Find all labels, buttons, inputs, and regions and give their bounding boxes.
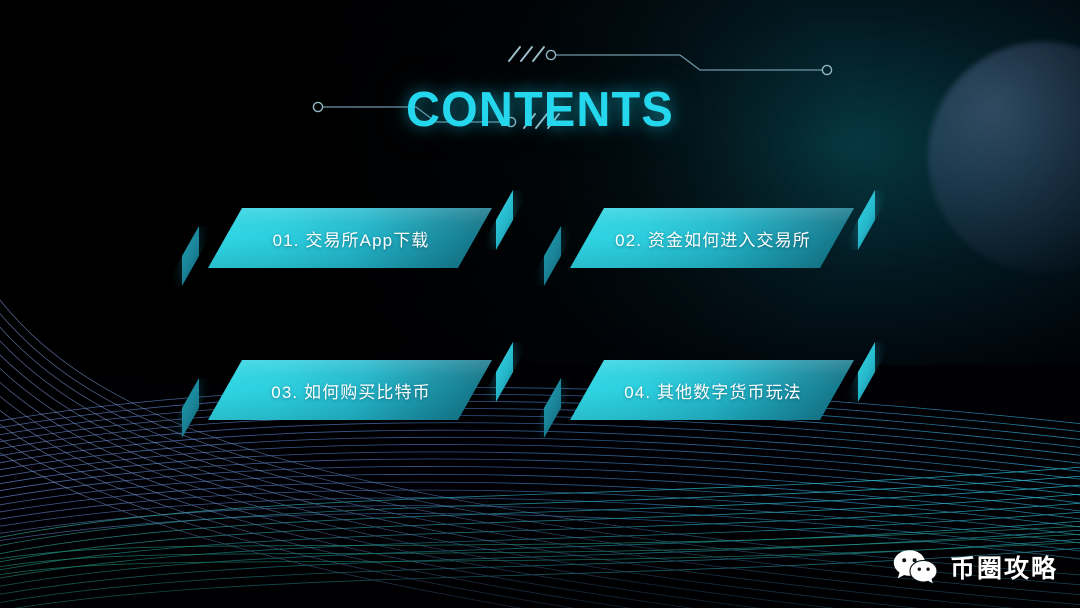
item-right-accent-bar xyxy=(496,342,513,402)
item-right-accent-bar xyxy=(858,342,875,402)
content-item-03[interactable]: 03. 如何购买比特币 xyxy=(208,360,492,420)
item-left-accent-bar xyxy=(182,378,199,438)
content-item-04[interactable]: 04. 其他数字货币玩法 xyxy=(570,360,854,420)
item-label: 01. 交易所App下载 xyxy=(208,208,492,268)
top-right-node-icon xyxy=(822,65,831,74)
item-left-accent-bar xyxy=(544,226,561,286)
top-circuit-line xyxy=(556,55,822,70)
content-item-01[interactable]: 01. 交易所App下载 xyxy=(208,208,492,268)
item-left-accent-bar xyxy=(182,226,199,286)
content-item-02[interactable]: 02. 资金如何进入交易所 xyxy=(570,208,854,268)
item-label: 04. 其他数字货币玩法 xyxy=(570,360,854,420)
title-block: CONTENTS xyxy=(0,36,1080,136)
item-left-accent-bar xyxy=(544,378,561,438)
top-slash-accents xyxy=(509,47,544,61)
page-title: CONTENTS xyxy=(22,86,1059,135)
contents-slide: CONTENTS 01. 交易所App下载 02. 资金如何进入交易所 03. … xyxy=(0,0,1080,608)
watermark-text: 币圈攻略 xyxy=(950,549,1058,585)
wechat-icon xyxy=(892,548,938,586)
watermark: 币圈攻略 xyxy=(892,548,1058,586)
top-left-node-icon xyxy=(546,50,555,59)
item-label: 02. 资金如何进入交易所 xyxy=(570,208,854,268)
item-right-accent-bar xyxy=(858,190,875,250)
item-label: 03. 如何购买比特币 xyxy=(208,360,492,420)
item-right-accent-bar xyxy=(496,190,513,250)
